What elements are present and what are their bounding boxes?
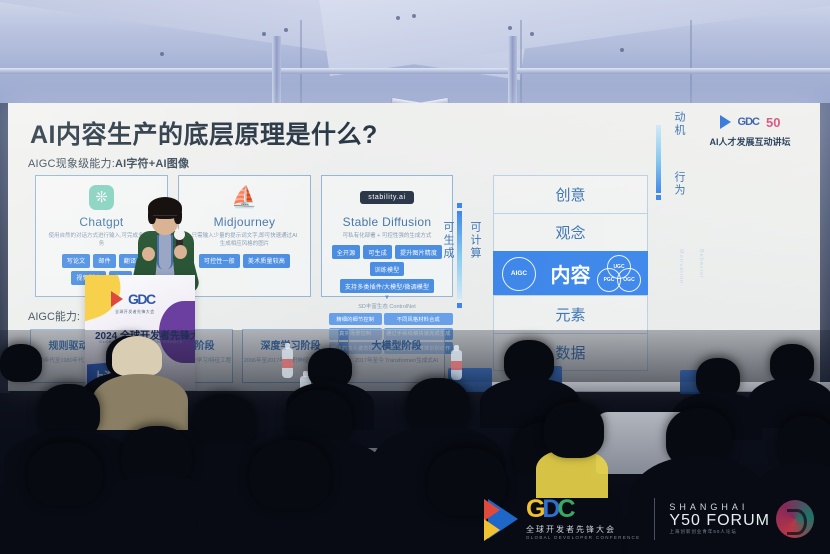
audience-head <box>0 344 42 382</box>
card-desc: 只需输入少量的提示词文字,即可快速通过AI生成相应风格的图片 <box>186 232 303 249</box>
water-bottle <box>282 348 293 378</box>
tent-ceiling <box>0 0 830 104</box>
logo-divider <box>654 498 655 540</box>
tag: 提升图片精度 <box>395 245 442 259</box>
forum-mark: GDC 50 AI人才发展互动讲坛 <box>694 111 806 148</box>
y50-circle-mark <box>776 500 814 538</box>
water-bottle <box>451 350 462 380</box>
stability-ai-badge: stability.ai <box>329 182 445 212</box>
speaker-glasses-icon <box>153 215 177 221</box>
gradient-bar-left <box>457 211 462 299</box>
venn-circle-ogc: OGC <box>617 268 641 292</box>
y50-logo-small: 50 <box>766 115 780 130</box>
tag: 支持多类插件/大模型/微调模型 <box>340 279 434 293</box>
y50-line2: Y50 FORUM <box>669 512 770 530</box>
play-triangle-icon <box>720 115 731 129</box>
y50-chinese-name: 上海创新创业青年50人论坛 <box>669 529 770 535</box>
card-desc: 可私有化部署 + 可控性强的生成方式 <box>329 232 445 240</box>
tag: 可控性一般 <box>199 254 240 268</box>
aigc-circle: AIGC <box>502 257 536 291</box>
card-title: Midjourney <box>186 215 303 229</box>
gradient-bar-right <box>656 125 661 193</box>
wall-seam <box>690 20 692 104</box>
screenshot-root: AI内容生产的底层原理是什么? AIGC现象级能力:AI字符+AI图像 GDC … <box>0 0 830 554</box>
down-arrow-icon: ▼ <box>329 295 445 301</box>
tag: 美术质量较高 <box>243 254 290 268</box>
label-generatable: 可生成 <box>442 221 453 260</box>
slide-subhead-plain: AIGC现象级能力: <box>28 158 115 170</box>
podium-gdc-logo: GDC <box>128 291 155 307</box>
slide-subhead-2: AIGC能力: <box>28 308 80 324</box>
forum-name: AI人才发展互动讲坛 <box>694 135 806 148</box>
roof-panel-right <box>309 0 830 76</box>
horizontal-beam <box>0 68 830 74</box>
ghost-label-motivation: Motivation <box>678 249 684 284</box>
card-tag-row: 可控性一般 美术质量较高 <box>186 254 303 268</box>
slide-subhead: AIGC现象级能力:AI字符+AI图像 <box>28 155 189 171</box>
support-column <box>508 36 517 104</box>
pyramid-row-creativity: 创意 <box>493 175 648 213</box>
slide-subhead-bold: AI字符+AI图像 <box>115 158 189 170</box>
label-computable: 可计算 <box>469 221 480 260</box>
pyramid-row-content: AIGC 内容 UGC PGC OGC <box>493 251 648 295</box>
audience-shoulders-tan <box>92 374 188 430</box>
gdc-wordmark: GDC <box>526 497 640 522</box>
audience-beanie-hat <box>112 336 162 376</box>
card-tag-row: 全开源 可生成 提升图片精度 训练模型 支持多类插件/大模型/微调模型 <box>329 245 445 293</box>
wall-seam <box>300 20 302 104</box>
tag: 全开源 <box>332 245 361 259</box>
speaker-hand-left <box>142 247 155 261</box>
gdc-logo-small: GDC <box>738 116 759 128</box>
grid-tag: 精细的细节控制 <box>329 313 382 325</box>
sd-sub-label: SD丰富生态 ControlNet <box>329 302 445 310</box>
pyramid-row-content-label: 内容 <box>551 259 591 288</box>
grid-tag: 不同风格材料合成 <box>384 313 453 325</box>
play-triangle-icon <box>488 499 518 539</box>
play-triangle-icon <box>111 291 123 307</box>
gdc-letter-c: C <box>557 495 572 523</box>
card-title: Stable Diffusion <box>329 215 445 229</box>
speaker-lanyard <box>157 235 173 269</box>
bottom-logo-bar: GDC 全球开发者先锋大会 GLOBAL DEVELOPER CONFERENC… <box>488 497 814 540</box>
gdc-letter-d: D <box>542 495 557 523</box>
gdc-text-block: GDC 全球开发者先锋大会 GLOBAL DEVELOPER CONFERENC… <box>526 497 640 540</box>
pyramid-row-concept: 观念 <box>493 213 648 251</box>
slide-title: AI内容生产的底层原理是什么? <box>30 115 378 151</box>
gdc-chinese-name: 全球开发者先锋大会 <box>526 524 640 535</box>
ugc-pgc-ogc-venn: UGC PGC OGC <box>597 255 641 293</box>
gradient-square-left-bottom <box>457 303 462 308</box>
tag: 训练模型 <box>370 262 405 276</box>
microphone-icon <box>174 229 185 240</box>
speaker-hand-right <box>174 245 187 259</box>
tag: 邮件 <box>93 254 115 268</box>
pyramid-row-elements: 元素 <box>493 295 648 333</box>
wall-seam <box>520 20 522 104</box>
card-stable-diffusion: stability.ai Stable Diffusion 可私有化部署 + 可… <box>321 175 453 297</box>
audience-head <box>250 440 330 510</box>
y50-line1: SHANGHAI <box>669 502 770 512</box>
stability-badge-text: stability.ai <box>360 191 413 204</box>
tag: 可生成 <box>363 245 392 259</box>
podium-logo-row: GDC <box>111 291 155 307</box>
audience-head <box>28 442 102 506</box>
gdc-letter-g: G <box>526 495 542 523</box>
gdc-english-name: GLOBAL DEVELOPER CONFERENCE <box>526 535 640 540</box>
audience-head <box>544 402 604 458</box>
sailboat-icon: ⛵ <box>186 182 303 212</box>
gradient-square-left <box>457 203 462 208</box>
tag: 写论文 <box>62 254 91 268</box>
support-column <box>272 36 281 104</box>
gradient-square-right <box>656 195 661 200</box>
y50-text-block: SHANGHAI Y50 FORUM 上海创新创业青年50人论坛 <box>669 502 770 536</box>
label-motivation: 动机 <box>673 111 684 137</box>
forum-logo-row: GDC 50 <box>694 111 806 133</box>
label-behavior: 行为 <box>673 171 684 197</box>
ghost-label-behavior: Behavior <box>698 249 704 279</box>
gdc-logo: GDC 全球开发者先锋大会 GLOBAL DEVELOPER CONFERENC… <box>488 497 640 540</box>
y50-logo: SHANGHAI Y50 FORUM 上海创新创业青年50人论坛 <box>669 500 814 538</box>
podium-logo-sub: 全球开发者先锋大会 <box>115 309 155 315</box>
